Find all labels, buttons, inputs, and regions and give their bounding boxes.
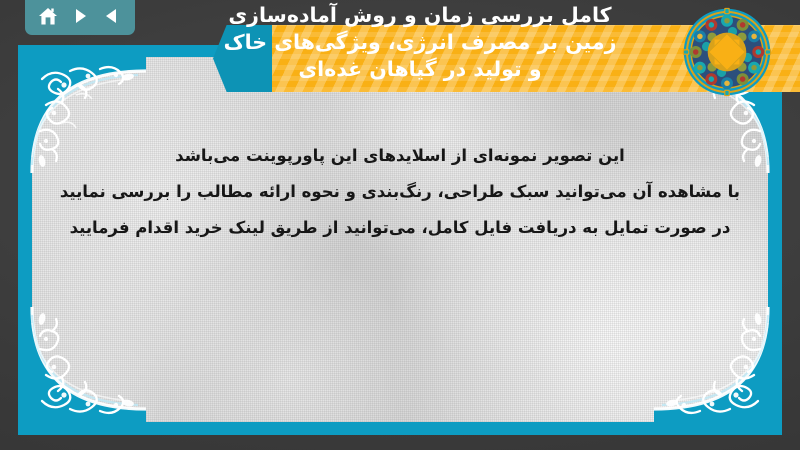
slide-body-text: این تصویر نمونه‌ای از اسلایدهای این پاور…: [60, 138, 740, 246]
persian-medallion-ornament: [681, 6, 773, 98]
body-line-3: در صورت تمایل به دریافت فایل کامل، می‌تو…: [60, 210, 740, 246]
body-line-2: با مشاهده آن می‌توانید سبک طراحی، رنگ‌بن…: [60, 174, 740, 210]
slide-viewer: کامل بررسی زمان و روش آماده‌سازی زمین بر…: [0, 0, 800, 450]
body-line-1: این تصویر نمونه‌ای از اسلایدهای این پاور…: [60, 138, 740, 174]
next-button[interactable]: [67, 4, 93, 28]
navigation-bar: [25, 0, 135, 35]
home-button[interactable]: [35, 4, 61, 28]
previous-button[interactable]: [99, 4, 125, 28]
triangle-right-icon: [71, 7, 89, 25]
home-icon: [38, 7, 58, 26]
triangle-left-icon: [103, 7, 121, 25]
